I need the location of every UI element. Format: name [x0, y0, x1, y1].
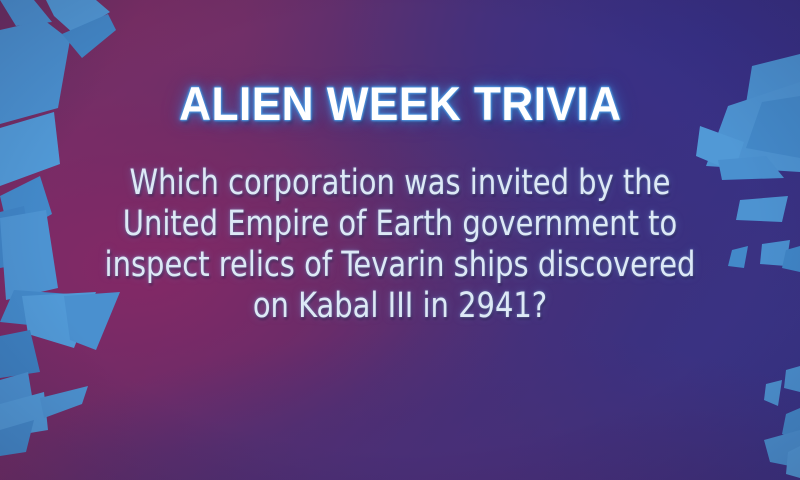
trivia-card: ALIEN WEEK TRIVIA Which corporation was …	[0, 0, 800, 480]
trivia-question: Which corporation was invited by the Uni…	[78, 163, 722, 327]
card-content: ALIEN WEEK TRIVIA Which corporation was …	[0, 0, 800, 480]
question-line: Which corporation was invited by the	[78, 163, 722, 204]
question-line: inspect relics of Tevarin ships discover…	[78, 245, 722, 286]
question-line: on Kabal III in 2941?	[78, 286, 722, 327]
question-line: United Empire of Earth government to	[78, 204, 722, 245]
page-title: ALIEN WEEK TRIVIA	[179, 76, 621, 131]
